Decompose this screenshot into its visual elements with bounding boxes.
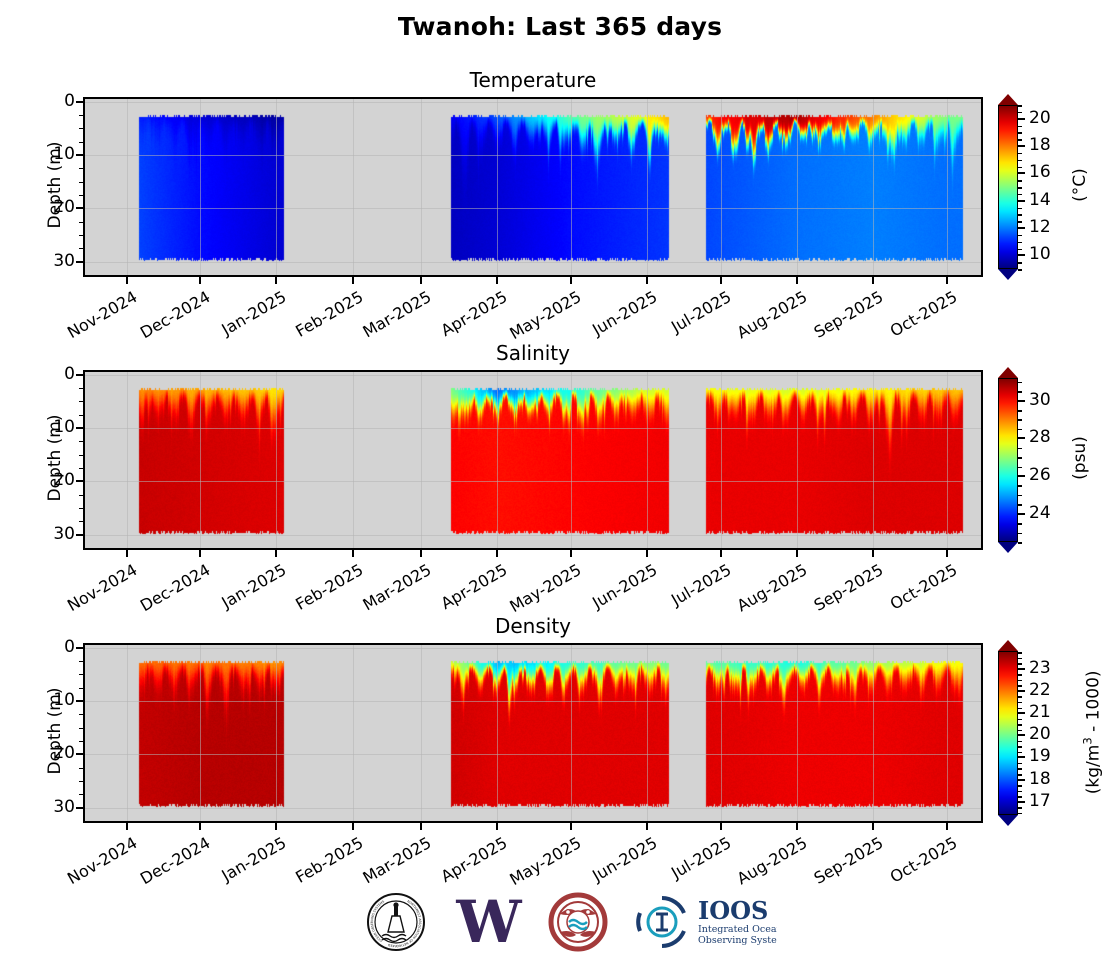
y-tick-minor xyxy=(79,115,83,116)
logo-strip: NORTHWEST ASSOCIATION OF NETWORKED OCEAN… xyxy=(0,892,1120,956)
y-tick-label: 10 xyxy=(37,144,75,164)
x-tick-mark xyxy=(199,277,201,284)
heatmap-canvas-salinity xyxy=(85,372,981,548)
colorbar-tick-minor xyxy=(1018,429,1022,431)
gridline-vertical xyxy=(873,372,874,548)
x-tick-mark xyxy=(275,550,277,557)
plot-area-temperature[interactable] xyxy=(83,97,983,277)
colorbar-tick-label: 14 xyxy=(1029,190,1051,210)
x-tick-mark xyxy=(126,823,128,830)
x-tick-mark xyxy=(646,550,648,557)
colorbar-tick-minor xyxy=(1018,807,1022,809)
colorbar-tick-minor xyxy=(1018,768,1022,770)
y-tick-mark xyxy=(76,807,83,809)
colorbar-tick-mark xyxy=(1018,400,1025,402)
colorbar-tick-mark xyxy=(1018,513,1025,515)
colorbar-tick-label: 23 xyxy=(1029,658,1051,678)
y-tick-minor xyxy=(79,661,83,662)
x-tick-mark xyxy=(796,277,798,284)
y-tick-minor xyxy=(79,128,83,129)
y-tick-label: 30 xyxy=(37,797,75,817)
x-tick-mark xyxy=(496,550,498,557)
figure-title: Twanoh: Last 365 days xyxy=(0,12,1120,41)
colorbar-tick-mark xyxy=(1018,779,1025,781)
gridline-vertical xyxy=(127,99,128,275)
colorbar-tick-minor xyxy=(1018,391,1022,393)
colorbar-tick-minor xyxy=(1018,724,1022,726)
y-tick-mark xyxy=(76,374,83,376)
colorbar-tick-mark xyxy=(1018,475,1025,477)
colorbar-tick-mark xyxy=(1018,200,1025,202)
panel-title-density: Density xyxy=(83,614,983,638)
colorbar-tick-label: 18 xyxy=(1029,769,1051,789)
colorbar-tick-minor xyxy=(1018,187,1022,189)
y-tick-mark xyxy=(76,700,83,702)
y-tick-minor xyxy=(79,468,83,469)
colorbar-tick-minor xyxy=(1018,813,1022,815)
gridline-vertical xyxy=(797,99,798,275)
gridline-vertical xyxy=(200,372,201,548)
gridline-vertical xyxy=(497,372,498,548)
gridline-vertical xyxy=(276,372,277,548)
gridline-horizontal xyxy=(85,754,981,755)
gridline-vertical xyxy=(276,645,277,821)
gridline-vertical xyxy=(353,645,354,821)
x-tick-mark xyxy=(496,277,498,284)
y-tick-mark xyxy=(76,101,83,103)
x-tick-mark xyxy=(275,823,277,830)
colorbar-tick-minor xyxy=(1018,763,1022,765)
colorbar-tick-minor xyxy=(1018,652,1022,654)
colorbar-tick-minor xyxy=(1018,235,1022,237)
colorbar-tick-minor xyxy=(1018,208,1022,210)
y-tick-minor xyxy=(79,388,83,389)
colorbar-tick-minor xyxy=(1018,680,1022,682)
y-tick-mark xyxy=(76,647,83,649)
colorbar-tick-minor xyxy=(1018,126,1022,128)
y-tick-minor xyxy=(79,168,83,169)
x-tick-mark xyxy=(352,823,354,830)
colorbar-tick-minor xyxy=(1018,419,1022,421)
y-tick-label: 20 xyxy=(37,470,75,490)
y-tick-minor xyxy=(79,495,83,496)
colorbar-tick-mark xyxy=(1018,254,1025,256)
colorbar-tick-minor xyxy=(1018,105,1022,107)
gridline-vertical xyxy=(647,99,648,275)
colorbar-tick-minor xyxy=(1018,495,1022,497)
y-tick-minor xyxy=(79,521,83,522)
gridline-vertical xyxy=(647,645,648,821)
gridline-vertical xyxy=(797,645,798,821)
ioos-tagline-1: Integrated Ocean xyxy=(698,924,777,935)
colorbar-tick-minor xyxy=(1018,774,1022,776)
colorbar-tick-minor xyxy=(1018,249,1022,251)
colorbar-tick-minor xyxy=(1018,112,1022,114)
x-tick-mark xyxy=(275,277,277,284)
y-tick-minor xyxy=(79,674,83,675)
x-tick-mark xyxy=(352,550,354,557)
colorbar-tick-label: 18 xyxy=(1029,135,1051,155)
colorbar-tick-minor xyxy=(1018,741,1022,743)
colorbar-extend-max-density xyxy=(998,640,1018,651)
x-tick-mark xyxy=(720,823,722,830)
colorbar-tick-mark xyxy=(1018,437,1025,439)
colorbar-tick-minor xyxy=(1018,448,1022,450)
x-tick-mark xyxy=(796,550,798,557)
y-tick-label: 20 xyxy=(37,743,75,763)
x-tick-mark xyxy=(420,823,422,830)
colorbar-tick-minor xyxy=(1018,658,1022,660)
colorbar-tick-mark xyxy=(1018,145,1025,147)
x-tick-mark xyxy=(570,550,572,557)
university-of-washington-logo: W xyxy=(452,890,526,958)
gridline-vertical xyxy=(873,99,874,275)
x-tick-mark xyxy=(126,550,128,557)
x-tick-mark xyxy=(946,550,948,557)
x-tick-mark xyxy=(496,823,498,830)
colorbar-tick-minor xyxy=(1018,194,1022,196)
ioos-logo: IOOS Integrated Ocean Observing System xyxy=(632,892,777,956)
y-tick-minor xyxy=(79,142,83,143)
y-tick-minor xyxy=(79,794,83,795)
colorbar-tick-minor xyxy=(1018,785,1022,787)
y-tick-minor xyxy=(79,415,83,416)
y-tick-minor xyxy=(79,781,83,782)
plot-area-salinity[interactable] xyxy=(83,370,983,550)
colorbar-unit-salinity: (psu) xyxy=(1070,423,1090,493)
x-tick-mark xyxy=(570,277,572,284)
gridline-vertical xyxy=(947,99,948,275)
gridline-vertical xyxy=(353,99,354,275)
colorbar-tick-mark xyxy=(1018,118,1025,120)
gridline-vertical xyxy=(571,99,572,275)
panel-title-temperature: Temperature xyxy=(83,68,983,92)
gridline-vertical xyxy=(421,372,422,548)
colorbar-tick-minor xyxy=(1018,132,1022,134)
gridline-vertical xyxy=(200,645,201,821)
colorbar-tick-label: 28 xyxy=(1029,427,1051,447)
gridline-vertical xyxy=(497,99,498,275)
colorbar-tick-minor xyxy=(1018,708,1022,710)
colorbar-tick-minor xyxy=(1018,702,1022,704)
y-tick-label: 30 xyxy=(37,524,75,544)
colorbar-tick-minor xyxy=(1018,160,1022,162)
x-tick-mark xyxy=(420,277,422,284)
x-tick-mark xyxy=(352,277,354,284)
svg-text:W: W xyxy=(455,890,522,954)
x-tick-mark xyxy=(720,550,722,557)
y-tick-minor xyxy=(79,688,83,689)
gridline-vertical xyxy=(721,99,722,275)
colorbar-tick-label: 12 xyxy=(1029,217,1051,237)
colorbar-tick-mark xyxy=(1018,734,1025,736)
colorbar-tick-minor xyxy=(1018,685,1022,687)
colorbar-gradient-salinity xyxy=(998,378,1018,542)
colorbar-tick-mark xyxy=(1018,690,1025,692)
y-tick-label: 30 xyxy=(37,251,75,271)
y-tick-minor xyxy=(79,222,83,223)
y-tick-minor xyxy=(79,728,83,729)
x-tick-mark xyxy=(720,277,722,284)
y-tick-mark xyxy=(76,480,83,482)
gridline-horizontal xyxy=(85,428,981,429)
x-tick-mark xyxy=(946,823,948,830)
colorbar-tick-minor xyxy=(1018,467,1022,469)
gridline-horizontal xyxy=(85,808,981,809)
colorbar-extend-min-salinity xyxy=(998,542,1018,553)
colorbar-extend-min-density xyxy=(998,815,1018,826)
colorbar-unit-temperature: (°C) xyxy=(1070,150,1090,220)
gridline-vertical xyxy=(497,645,498,821)
y-tick-minor xyxy=(79,741,83,742)
colorbar-extend-max-temperature xyxy=(998,94,1018,105)
gridline-horizontal xyxy=(85,648,981,649)
gridline-vertical xyxy=(353,372,354,548)
colorbar-tick-mark xyxy=(1018,756,1025,758)
colorbar-tick-minor xyxy=(1018,533,1022,535)
colorbar-tick-mark xyxy=(1018,172,1025,174)
colorbar-tick-minor xyxy=(1018,139,1022,141)
colorbar-tick-minor xyxy=(1018,696,1022,698)
y-tick-mark xyxy=(76,154,83,156)
gridline-horizontal xyxy=(85,535,981,536)
colorbar-tick-minor xyxy=(1018,221,1022,223)
colorbar-tick-minor xyxy=(1018,485,1022,487)
panel-title-salinity: Salinity xyxy=(83,341,983,365)
y-tick-minor xyxy=(79,401,83,402)
y-tick-mark xyxy=(76,261,83,263)
y-tick-mark xyxy=(76,753,83,755)
y-tick-minor xyxy=(79,441,83,442)
colorbar-tick-label: 30 xyxy=(1029,390,1051,410)
y-tick-minor xyxy=(79,195,83,196)
gridline-vertical xyxy=(947,372,948,548)
colorbar-tick-minor xyxy=(1018,382,1022,384)
y-tick-label: 20 xyxy=(37,197,75,217)
gridline-vertical xyxy=(721,645,722,821)
colorbar-tick-mark xyxy=(1018,712,1025,714)
gridline-vertical xyxy=(947,645,948,821)
colorbar-tick-minor xyxy=(1018,262,1022,264)
colorbar-extend-max-salinity xyxy=(998,367,1018,378)
colorbar-tick-minor xyxy=(1018,410,1022,412)
gridline-horizontal xyxy=(85,208,981,209)
colorbar-tick-minor xyxy=(1018,457,1022,459)
gridline-vertical xyxy=(873,645,874,821)
gridline-vertical xyxy=(571,372,572,548)
colorbar-tick-label: 26 xyxy=(1029,465,1051,485)
colorbar-unit-density: (kg/m3 - 1000) xyxy=(1081,652,1104,812)
gridline-vertical xyxy=(647,372,648,548)
colorbar-tick-label: 20 xyxy=(1029,108,1051,128)
x-tick-mark xyxy=(420,550,422,557)
colorbar-tick-label: 19 xyxy=(1029,746,1051,766)
colorbar-gradient-density xyxy=(998,651,1018,815)
salish-sea-circle-logo xyxy=(548,892,608,956)
plot-area-density[interactable] xyxy=(83,643,983,823)
colorbar-tick-minor xyxy=(1018,269,1022,271)
heatmap-canvas-temperature xyxy=(85,99,981,275)
gridline-horizontal xyxy=(85,481,981,482)
x-tick-mark xyxy=(199,550,201,557)
colorbar-tick-minor xyxy=(1018,796,1022,798)
y-tick-minor xyxy=(79,768,83,769)
colorbar-tick-label: 17 xyxy=(1029,791,1051,811)
colorbar-tick-label: 24 xyxy=(1029,503,1051,523)
x-tick-mark xyxy=(946,277,948,284)
y-tick-label: 10 xyxy=(37,690,75,710)
gridline-vertical xyxy=(276,99,277,275)
colorbar-tick-minor xyxy=(1018,180,1022,182)
y-tick-minor xyxy=(79,508,83,509)
colorbar-tick-minor xyxy=(1018,542,1022,544)
gridline-horizontal xyxy=(85,155,981,156)
nanoos-buoy-seal-logo: NORTHWEST ASSOCIATION OF NETWORKED OCEAN… xyxy=(366,892,426,956)
x-tick-mark xyxy=(872,277,874,284)
gridline-vertical xyxy=(421,645,422,821)
y-tick-label: 0 xyxy=(37,364,75,384)
colorbar-tick-minor xyxy=(1018,167,1022,169)
gridline-horizontal xyxy=(85,262,981,263)
colorbar-tick-minor xyxy=(1018,746,1022,748)
colorbar-tick-minor xyxy=(1018,663,1022,665)
gridline-horizontal xyxy=(85,701,981,702)
y-tick-label: 0 xyxy=(37,91,75,111)
y-tick-mark xyxy=(76,427,83,429)
y-tick-minor xyxy=(79,182,83,183)
colorbar-tick-label: 22 xyxy=(1029,680,1051,700)
colorbar-tick-label: 10 xyxy=(1029,244,1051,264)
colorbar-tick-mark xyxy=(1018,801,1025,803)
heatmap-canvas-density xyxy=(85,645,981,821)
x-tick-mark xyxy=(646,277,648,284)
y-tick-minor xyxy=(79,248,83,249)
colorbar-tick-label: 21 xyxy=(1029,702,1051,722)
x-tick-mark xyxy=(570,823,572,830)
y-tick-mark xyxy=(76,534,83,536)
colorbar-tick-minor xyxy=(1018,674,1022,676)
x-tick-mark xyxy=(646,823,648,830)
gridline-horizontal xyxy=(85,375,981,376)
gridline-vertical xyxy=(797,372,798,548)
colorbar-tick-minor xyxy=(1018,504,1022,506)
y-tick-label: 0 xyxy=(37,637,75,657)
y-tick-minor xyxy=(79,235,83,236)
colorbar-extend-min-temperature xyxy=(998,269,1018,280)
colorbar-tick-minor xyxy=(1018,752,1022,754)
gridline-vertical xyxy=(200,99,201,275)
y-tick-minor xyxy=(79,455,83,456)
x-tick-mark xyxy=(199,823,201,830)
ioos-wordmark: IOOS xyxy=(698,896,768,925)
x-tick-mark xyxy=(126,277,128,284)
y-tick-mark xyxy=(76,207,83,209)
colorbar-tick-label: 16 xyxy=(1029,162,1051,182)
gridline-horizontal xyxy=(85,102,981,103)
colorbar-tick-minor xyxy=(1018,242,1022,244)
colorbar-tick-minor xyxy=(1018,214,1022,216)
x-tick-mark xyxy=(796,823,798,830)
ioos-tagline-2: Observing System xyxy=(698,935,777,946)
gridline-vertical xyxy=(571,645,572,821)
y-tick-label: 10 xyxy=(37,417,75,437)
colorbar-tick-mark xyxy=(1018,227,1025,229)
x-tick-mark xyxy=(872,550,874,557)
colorbar-tick-minor xyxy=(1018,791,1022,793)
gridline-vertical xyxy=(421,99,422,275)
y-tick-minor xyxy=(79,714,83,715)
colorbar-gradient-temperature xyxy=(998,105,1018,269)
colorbar-tick-minor xyxy=(1018,730,1022,732)
colorbar-tick-minor xyxy=(1018,719,1022,721)
colorbar-tick-label: 20 xyxy=(1029,724,1051,744)
gridline-vertical xyxy=(127,645,128,821)
x-tick-mark xyxy=(872,823,874,830)
colorbar-tick-minor xyxy=(1018,153,1022,155)
gridline-vertical xyxy=(127,372,128,548)
colorbar-tick-mark xyxy=(1018,668,1025,670)
gridline-vertical xyxy=(721,372,722,548)
colorbar-tick-minor xyxy=(1018,523,1022,525)
